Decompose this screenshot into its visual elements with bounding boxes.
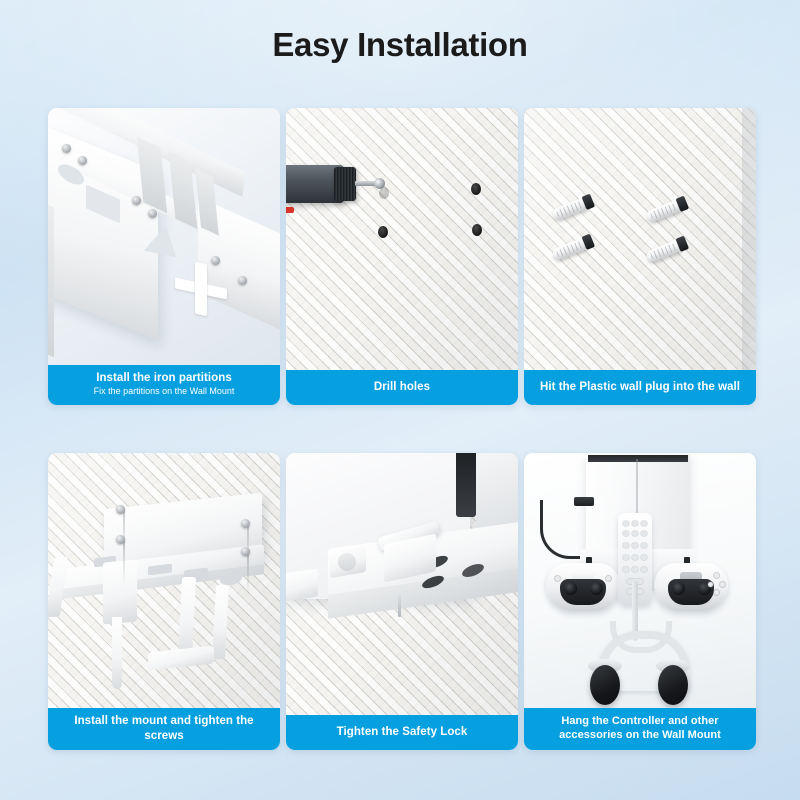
- step-card-4[interactable]: Install the mount and tighten the screws: [48, 453, 280, 750]
- drill-chuck: [334, 167, 356, 201]
- step-4-caption-title: Install the mount and tighten the screws: [54, 714, 274, 743]
- step-6-caption-title-line1: Hang the Controller and other: [561, 715, 718, 729]
- infographic-page: Easy Installation: [0, 0, 800, 800]
- remote-key: [623, 543, 629, 548]
- console-dark-slot: [456, 453, 476, 517]
- plus-marker-vertical: [195, 262, 207, 317]
- drilled-hole: [378, 226, 388, 238]
- step-3-caption-title: Hit the Plastic wall plug into the wall: [540, 380, 740, 394]
- safety-lock-knob: [338, 553, 356, 571]
- remote-key: [641, 531, 647, 536]
- step-3-caption: Hit the Plastic wall plug into the wall: [524, 370, 756, 405]
- drilled-hole: [379, 187, 389, 199]
- cable-plug-icon: [574, 497, 594, 506]
- controller-hook-left-tail: [112, 617, 122, 689]
- controller-right: [654, 563, 728, 611]
- controller-button: [708, 582, 713, 587]
- remote-key: [632, 521, 638, 526]
- wall-shading: [286, 108, 518, 370]
- remote-key: [632, 555, 638, 560]
- step-6-image: [524, 453, 756, 708]
- controller-stick-left: [564, 582, 577, 595]
- screw-shadow: [123, 541, 125, 585]
- safety-lock-screw: [398, 593, 401, 617]
- step-card-5[interactable]: Tighten the Safety Lock: [286, 453, 518, 750]
- step-card-2[interactable]: Drill holes: [286, 108, 518, 405]
- wall-right-edge: [742, 108, 756, 370]
- steps-grid: Install the iron partitions Fix the part…: [48, 108, 756, 750]
- remote-key: [641, 543, 647, 548]
- drilled-hole: [471, 183, 481, 195]
- remote-key: [623, 555, 629, 560]
- remote-key: [641, 521, 647, 526]
- step-5-caption-title: Tighten the Safety Lock: [337, 725, 468, 739]
- screw-icon: [148, 209, 157, 218]
- remote-key: [623, 531, 629, 536]
- remote-key: [641, 555, 647, 560]
- step-1-caption-subtitle: Fix the partitions on the Wall Mount: [94, 386, 235, 398]
- drilled-hole: [472, 224, 482, 236]
- screw-icon: [116, 505, 125, 514]
- controller-button: [714, 573, 719, 578]
- screw-icon: [241, 547, 250, 556]
- step-1-image: [48, 108, 280, 365]
- controller-stick-left: [672, 582, 685, 595]
- screw-icon: [238, 276, 247, 285]
- screw-icon: [116, 535, 125, 544]
- console-top-strip: [588, 455, 688, 462]
- screw-shadow: [247, 553, 249, 597]
- step-5-caption: Tighten the Safety Lock: [286, 715, 518, 750]
- step-card-1[interactable]: Install the iron partitions Fix the part…: [48, 108, 280, 405]
- remote-key: [632, 567, 638, 572]
- step-card-6[interactable]: Hang the Controller and other accessorie…: [524, 453, 756, 750]
- page-title: Easy Installation: [0, 26, 800, 64]
- step-card-3[interactable]: Hit the Plastic wall plug into the wall: [524, 108, 756, 405]
- step-6-caption: Hang the Controller and other accessorie…: [524, 708, 756, 750]
- controller-left: [546, 563, 620, 611]
- remote-key: [632, 543, 638, 548]
- step-1-caption: Install the iron partitions Fix the part…: [48, 365, 280, 405]
- controller-stick-right: [590, 582, 603, 595]
- step-1-caption-title: Install the iron partitions: [96, 371, 232, 385]
- headphone-earcup-right: [658, 665, 688, 705]
- drill-trigger: [286, 207, 294, 213]
- step-5-image: [286, 453, 518, 715]
- controller-hook-left: [103, 560, 137, 625]
- controller-button: [555, 576, 560, 581]
- controller-button: [606, 576, 611, 581]
- step-2-caption: Drill holes: [286, 370, 518, 405]
- screw-icon: [241, 519, 250, 528]
- step-2-caption-title: Drill holes: [374, 380, 430, 394]
- mount-left-bracket: [286, 569, 318, 602]
- remote-key: [641, 567, 647, 572]
- screw-icon: [78, 156, 87, 165]
- screw-icon: [211, 256, 220, 265]
- remote-key: [632, 531, 638, 536]
- step-4-caption: Install the mount and tighten the screws: [48, 708, 280, 750]
- console-right-panel: [476, 453, 518, 529]
- controller-button: [714, 590, 719, 595]
- step-4-image: [48, 453, 280, 708]
- step-3-image: [524, 108, 756, 370]
- step-2-image: [286, 108, 518, 370]
- step-6-caption-title-line2: accessories on the Wall Mount: [559, 729, 721, 743]
- bracket-side-edge: [48, 201, 54, 357]
- remote-key: [623, 567, 629, 572]
- controller-button: [720, 582, 725, 587]
- screw-icon: [132, 196, 141, 205]
- wall-shading: [524, 108, 756, 370]
- screw-icon: [62, 144, 71, 153]
- remote-key: [623, 521, 629, 526]
- headphone-earcup-left: [590, 665, 620, 705]
